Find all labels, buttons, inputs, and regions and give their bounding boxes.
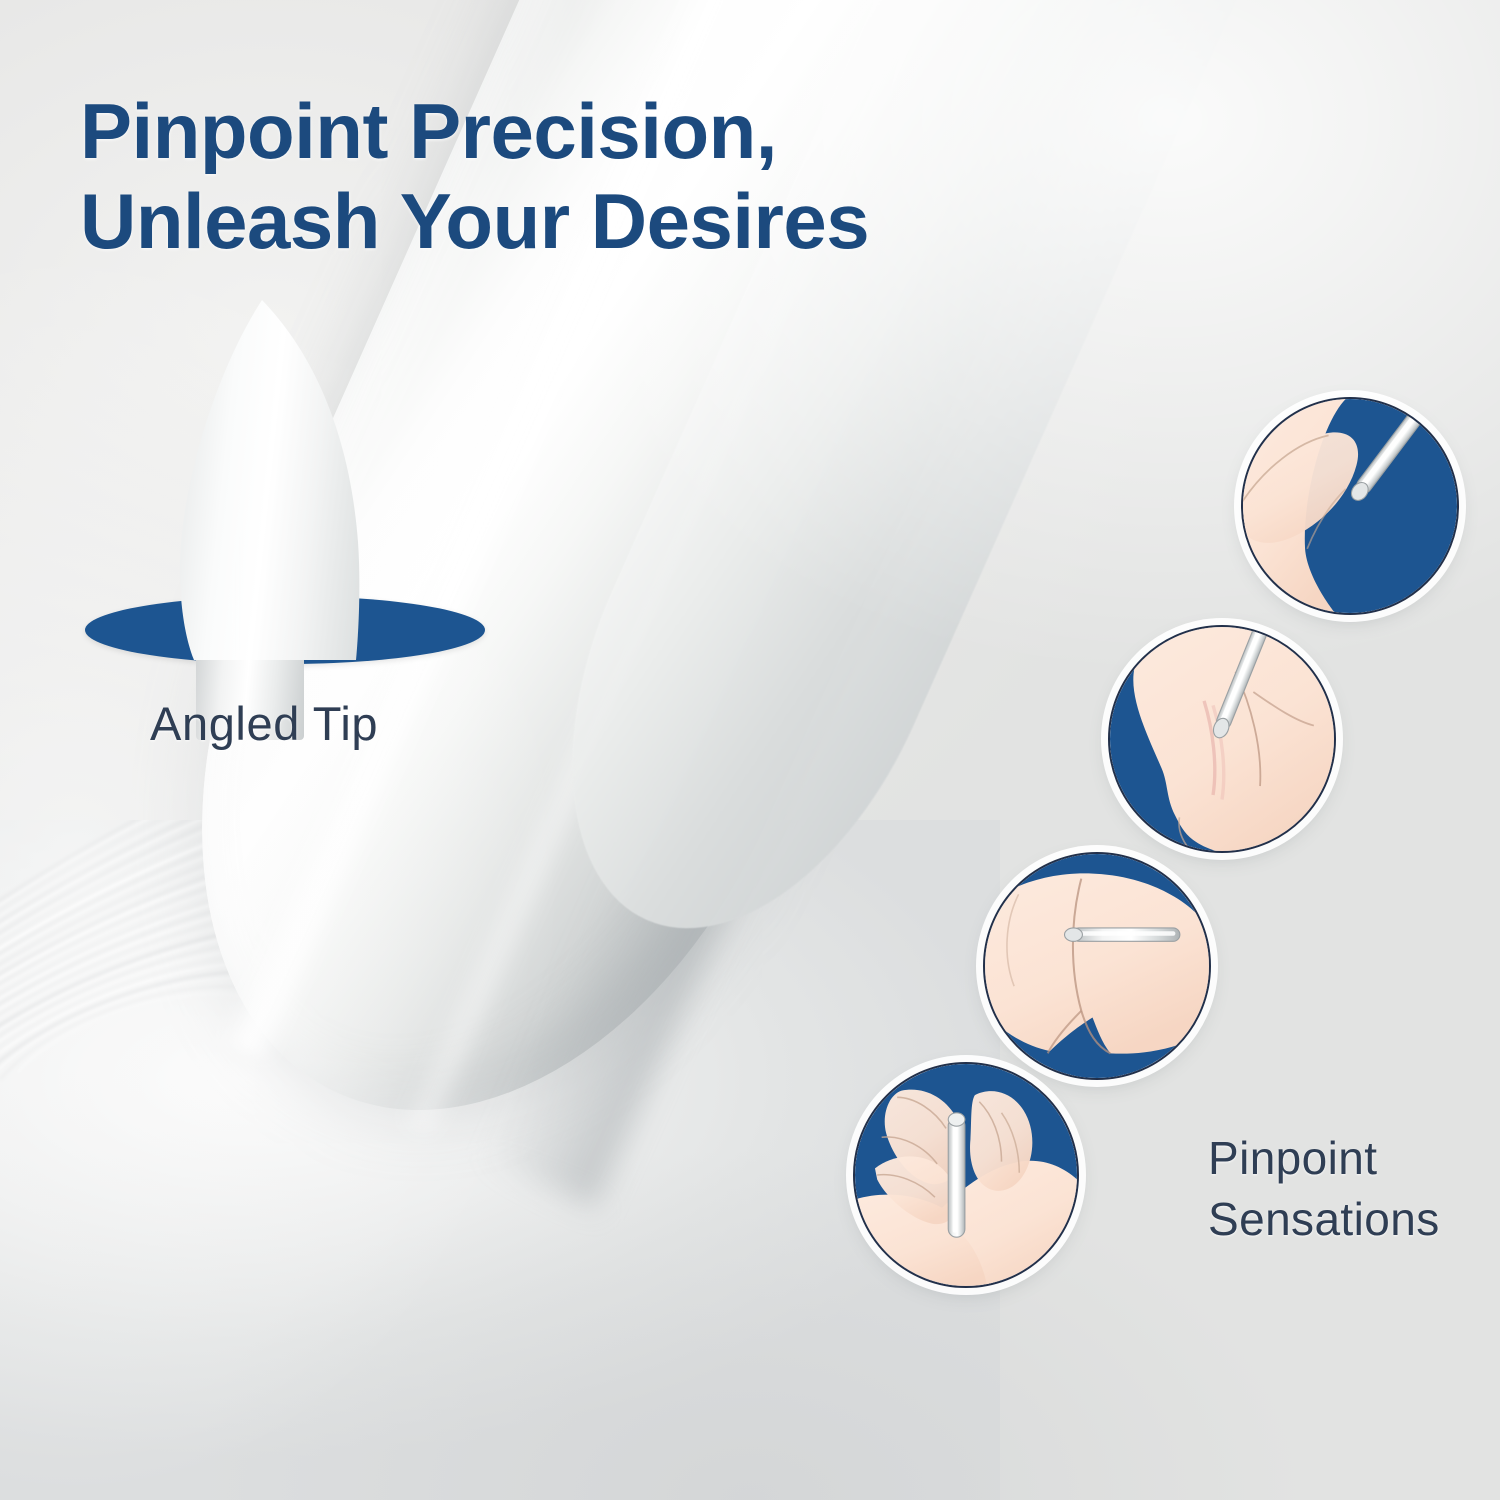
headline-line-2: Unleash Your Desires bbox=[80, 176, 960, 266]
product-marketing-image: Pinpoint Precision, Unleash Your Desires… bbox=[0, 0, 1500, 1500]
page-title: Pinpoint Precision, Unleash Your Desires bbox=[80, 86, 960, 267]
hand-held-wand-icon-art bbox=[855, 1064, 1077, 1286]
pinpoint-sensations-label: Pinpoint Sensations bbox=[1208, 1128, 1440, 1249]
hand-held-wand-icon bbox=[853, 1062, 1079, 1288]
pinpoint-label-line-2: Sensations bbox=[1208, 1189, 1440, 1250]
angled-tip-label: Angled Tip bbox=[150, 696, 378, 751]
angled-tip-shape bbox=[150, 300, 400, 660]
pinpoint-label-line-1: Pinpoint bbox=[1208, 1128, 1440, 1189]
headline-line-1: Pinpoint Precision, bbox=[80, 87, 777, 175]
intimate-area-icon bbox=[1108, 625, 1336, 853]
chest-icon-art bbox=[985, 854, 1209, 1078]
intimate-area-icon-art bbox=[1110, 627, 1334, 851]
chest-icon bbox=[983, 852, 1211, 1080]
neck-collarbone-icon bbox=[1241, 397, 1459, 615]
angled-tip-illustration bbox=[150, 300, 400, 660]
neck-collarbone-icon-art bbox=[1243, 399, 1457, 613]
